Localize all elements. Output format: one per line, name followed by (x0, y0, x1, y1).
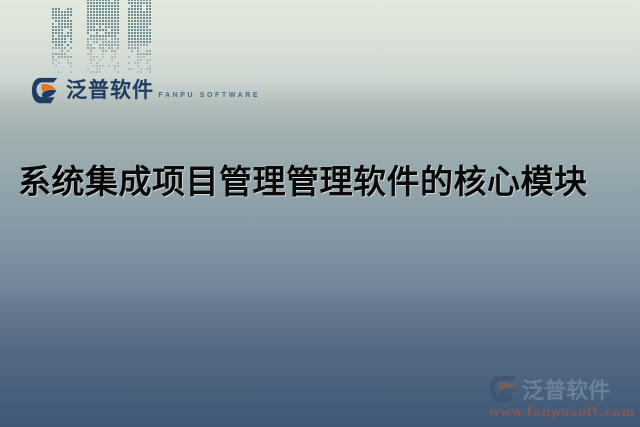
skyline-pixel (70, 32, 72, 34)
skyline-pixel (111, 23, 113, 25)
skyline-pixel (96, 56, 98, 58)
skyline-pixel (140, 56, 142, 58)
skyline-pixel (108, 8, 110, 10)
skyline-pixel (105, 68, 107, 70)
skyline-pixel (114, 11, 116, 13)
skyline-pixel (87, 50, 89, 52)
skyline-pixel (117, 5, 119, 7)
skyline-pixel (87, 41, 89, 43)
skyline-pixel (70, 47, 72, 49)
skyline-pixel (131, 35, 133, 37)
skyline-pixel (128, 59, 130, 61)
skyline-pixel (111, 17, 113, 19)
skyline-pixel (52, 29, 54, 31)
skyline-pixel (108, 5, 110, 7)
skyline-pixel (58, 11, 60, 13)
skyline-pixel (134, 29, 136, 31)
skyline-pixel-row (87, 14, 119, 16)
skyline-pixel (64, 26, 66, 28)
skyline-pixel (137, 8, 139, 10)
skyline-pixel (90, 35, 92, 37)
skyline-pixel (143, 5, 145, 7)
skyline-pixel (61, 59, 63, 61)
skyline-pixel (99, 32, 101, 34)
skyline-pixel (117, 65, 119, 67)
skyline-pixel (105, 14, 107, 16)
skyline-pixel (140, 11, 142, 13)
skyline-pixel (111, 71, 113, 73)
skyline-pixel (102, 44, 104, 46)
skyline-pixel (61, 50, 63, 52)
skyline-pixel (70, 71, 72, 73)
skyline-pixel (143, 38, 145, 40)
skyline-pixel (70, 41, 72, 43)
skyline-pixel (55, 20, 57, 22)
skyline-pixel-row (87, 35, 119, 37)
skyline-pixel (131, 68, 133, 70)
skyline-pixel (87, 5, 89, 7)
skyline-pixel (58, 20, 60, 22)
skyline-pixel (102, 41, 104, 43)
skyline-pixel (105, 20, 107, 22)
skyline-pixel (149, 53, 151, 55)
skyline-pixel (134, 17, 136, 19)
skyline-pixel-row (52, 38, 72, 40)
skyline-pixel (137, 23, 139, 25)
skyline-pixel (128, 62, 130, 64)
skyline-pixel (93, 17, 95, 19)
skyline-pixel (128, 2, 130, 4)
skyline-pixel (99, 47, 101, 49)
skyline-pixel (58, 29, 60, 31)
skyline-pixel (61, 41, 63, 43)
skyline-pixel (143, 20, 145, 22)
skyline-pixel (99, 68, 101, 70)
skyline-pixel (87, 59, 89, 61)
watermark-url: www.fanpusoft.com (489, 404, 634, 419)
skyline-pixel-row (128, 59, 151, 61)
skyline-pixel (134, 14, 136, 16)
skyline-pixel-row (87, 17, 119, 19)
skyline-pixel (140, 71, 142, 73)
skyline-pixel (64, 20, 66, 22)
skyline-pixel (114, 68, 116, 70)
skyline-pixel (87, 68, 89, 70)
skyline-pixel (61, 44, 63, 46)
skyline-pixel (131, 17, 133, 19)
skyline-pixel (93, 14, 95, 16)
skyline-pixel (131, 50, 133, 52)
skyline-pixel-row (87, 59, 119, 61)
skyline-pixel (140, 32, 142, 34)
skyline-pixel (67, 47, 69, 49)
skyline-pixel (105, 59, 107, 61)
skyline-pixel (70, 26, 72, 28)
skyline-pixel (143, 62, 145, 64)
skyline-pixel (67, 38, 69, 40)
skyline-pixel (143, 8, 145, 10)
skyline-pixel (108, 71, 110, 73)
skyline-pixel (128, 11, 130, 13)
skyline-pixel (96, 2, 98, 4)
skyline-pixel (58, 50, 60, 52)
skyline-pixel (108, 20, 110, 22)
skyline-pixel (140, 65, 142, 67)
skyline-pixel (108, 47, 110, 49)
skyline-pixel (96, 26, 98, 28)
skyline-pixel (102, 71, 104, 73)
skyline-pixel (117, 32, 119, 34)
skyline-pixel (93, 29, 95, 31)
skyline-pixel (134, 47, 136, 49)
skyline-pixel-row (52, 17, 72, 19)
skyline-pixel (143, 32, 145, 34)
skyline-pixel (99, 17, 101, 19)
skyline-pixel (96, 59, 98, 61)
skyline-pixel (55, 23, 57, 25)
skyline-pixel (143, 68, 145, 70)
skyline-pixel (114, 59, 116, 61)
skyline-pixel (102, 23, 104, 25)
skyline-pixel (96, 11, 98, 13)
skyline-pixel (149, 41, 151, 43)
skyline-pixel (90, 32, 92, 34)
skyline-pixel (96, 20, 98, 22)
skyline-pixel (146, 68, 148, 70)
skyline-pixel (55, 59, 57, 61)
skyline-pixel (90, 56, 92, 58)
skyline-pixel (117, 41, 119, 43)
skyline-pixel (52, 17, 54, 19)
skyline-pixel (96, 65, 98, 67)
skyline-pixel-row (52, 71, 72, 73)
skyline-pixel (93, 32, 95, 34)
skyline-pixel (111, 38, 113, 40)
skyline-pixel (93, 44, 95, 46)
skyline-pixel (102, 8, 104, 10)
skyline-pixel-row (87, 8, 119, 10)
skyline-pixel (87, 20, 89, 22)
skyline-pixel (149, 68, 151, 70)
skyline-pixel (55, 38, 57, 40)
skyline-pixel (128, 5, 130, 7)
skyline-pixel (114, 32, 116, 34)
skyline-pixel (117, 44, 119, 46)
skyline-pixel (105, 65, 107, 67)
skyline-pixel-row (87, 11, 119, 13)
skyline-pixel (128, 68, 130, 70)
skyline-pixel (134, 68, 136, 70)
skyline-pixel (137, 0, 139, 1)
skyline-pixel (128, 71, 130, 73)
skyline-pixel (114, 23, 116, 25)
skyline-pixel (67, 20, 69, 22)
skyline-pixel (93, 41, 95, 43)
skyline-pixel (61, 17, 63, 19)
skyline-pixel (108, 17, 110, 19)
skyline-pixel (146, 2, 148, 4)
skyline-pixel (67, 65, 69, 67)
skyline-pixel-row (128, 41, 151, 43)
skyline-pixel (99, 2, 101, 4)
skyline-pixel (137, 68, 139, 70)
skyline-pixel (64, 29, 66, 31)
skyline-pixel-row (52, 68, 72, 70)
skyline-pixel (102, 56, 104, 58)
skyline-pixel (96, 14, 98, 16)
skyline-pixel (67, 68, 69, 70)
skyline-pixel (146, 44, 148, 46)
skyline-pixel (93, 68, 95, 70)
skyline-pixel (137, 59, 139, 61)
skyline-pixel-row (128, 56, 151, 58)
skyline-pixel (61, 20, 63, 22)
skyline-pixel (70, 50, 72, 52)
skyline-pixel (64, 8, 66, 10)
skyline-pixel (149, 17, 151, 19)
skyline-pixel (114, 53, 116, 55)
skyline-pixel (55, 29, 57, 31)
skyline-pixel (99, 56, 101, 58)
skyline-pixel (149, 71, 151, 73)
skyline-pixel (146, 35, 148, 37)
skyline-pixel (96, 8, 98, 10)
skyline-pixel (149, 11, 151, 13)
skyline-pixel (117, 35, 119, 37)
skyline-pixel (117, 56, 119, 58)
skyline-pixel (55, 32, 57, 34)
skyline-pixel (134, 20, 136, 22)
skyline-pixel (149, 5, 151, 7)
skyline-pixel (52, 14, 54, 16)
skyline-pixel (111, 26, 113, 28)
skyline-pixel (87, 35, 89, 37)
skyline-pixel-row (128, 62, 151, 64)
skyline-pixel (111, 35, 113, 37)
skyline-pixel (105, 0, 107, 1)
skyline-pixel (143, 56, 145, 58)
skyline-pixel (134, 56, 136, 58)
skyline-pixel (146, 32, 148, 34)
skyline-pixel (140, 59, 142, 61)
skyline-pixel (70, 59, 72, 61)
skyline-pixel (128, 38, 130, 40)
skyline-pixel (58, 59, 60, 61)
skyline-pixel (87, 23, 89, 25)
skyline-pixel (58, 56, 60, 58)
skyline-pixel (108, 50, 110, 52)
skyline-pixel (143, 29, 145, 31)
skyline-pixel (114, 44, 116, 46)
skyline-pixel (96, 23, 98, 25)
skyline-pixel (111, 56, 113, 58)
skyline-pixel (61, 32, 63, 34)
skyline-pixel (140, 50, 142, 52)
skyline-pixel (111, 32, 113, 34)
skyline-pixel (99, 20, 101, 22)
skyline-pixel (114, 8, 116, 10)
skyline-pixel (114, 50, 116, 52)
skyline-pixel (149, 2, 151, 4)
skyline-pixel (146, 23, 148, 25)
skyline-pixel (108, 68, 110, 70)
skyline-pixel-row (128, 2, 151, 4)
skyline-pixel (143, 50, 145, 52)
skyline-pixel (128, 14, 130, 16)
skyline-pixel (143, 23, 145, 25)
skyline-pixel (128, 44, 130, 46)
skyline-pixel (90, 47, 92, 49)
skyline-pixel (149, 29, 151, 31)
skyline-pixel (90, 44, 92, 46)
skyline-pixel-row (128, 23, 151, 25)
skyline-pixel (90, 11, 92, 13)
skyline-pixel (134, 62, 136, 64)
skyline-pixel (117, 23, 119, 25)
skyline-pixel (114, 38, 116, 40)
skyline-pixel (58, 53, 60, 55)
skyline-pixel (99, 59, 101, 61)
skyline-pixel (90, 0, 92, 1)
skyline-pixel (149, 62, 151, 64)
fanpu-swirl-hexagon-icon (31, 76, 60, 105)
skyline-pixel (90, 5, 92, 7)
skyline-pixel (128, 56, 130, 58)
skyline-pixel (102, 53, 104, 55)
skyline-pixel (55, 14, 57, 16)
skyline-pixel (108, 56, 110, 58)
skyline-pixel (105, 17, 107, 19)
skyline-pixel (70, 56, 72, 58)
skyline-pixel (146, 11, 148, 13)
skyline-pixel (70, 65, 72, 67)
skyline-pixel (64, 47, 66, 49)
skyline-pixel (61, 26, 63, 28)
skyline-pixel (108, 53, 110, 55)
skyline-pixel (102, 50, 104, 52)
skyline-pixel (111, 65, 113, 67)
skyline-pixel (55, 62, 57, 64)
skyline-pixel (134, 44, 136, 46)
skyline-pixel (64, 14, 66, 16)
skyline-pixel (70, 20, 72, 22)
skyline-pixel (137, 50, 139, 52)
skyline-pixel (67, 14, 69, 16)
skyline-pixel (140, 0, 142, 1)
skyline-pixel (146, 14, 148, 16)
skyline-pixel (134, 11, 136, 13)
skyline-pixel (131, 44, 133, 46)
skyline-pixel (149, 47, 151, 49)
skyline-pixel (140, 44, 142, 46)
skyline-pixel (67, 62, 69, 64)
skyline-pixel (52, 62, 54, 64)
skyline-pixel (137, 53, 139, 55)
skyline-pixel (128, 47, 130, 49)
skyline-pixel (52, 26, 54, 28)
skyline-pixel (70, 14, 72, 16)
skyline-pixel (64, 32, 66, 34)
skyline-pixel (105, 29, 107, 31)
skyline-tower-left (52, 8, 72, 74)
skyline-pixel (140, 8, 142, 10)
skyline-pixel (64, 62, 66, 64)
skyline-pixel (58, 62, 60, 64)
skyline-pixel (67, 41, 69, 43)
skyline-pixel (93, 2, 95, 4)
skyline-pixel (117, 62, 119, 64)
skyline-pixel (114, 56, 116, 58)
skyline-pixel (117, 59, 119, 61)
watermark-logo-row: 泛普软件 (489, 373, 634, 405)
skyline-pixel (55, 41, 57, 43)
skyline-pixel (146, 20, 148, 22)
skyline-pixel (114, 17, 116, 19)
skyline-pixel (90, 20, 92, 22)
skyline-pixel (64, 17, 66, 19)
skyline-pixel-row (52, 59, 72, 61)
skyline-pixel (117, 53, 119, 55)
skyline-pixel (149, 50, 151, 52)
skyline-pixel (58, 38, 60, 40)
skyline-pixel (131, 2, 133, 4)
skyline-pixel (67, 32, 69, 34)
skyline-pixel (87, 29, 89, 31)
skyline-pixel (108, 2, 110, 4)
skyline-pixel-row (128, 38, 151, 40)
skyline-pixel (134, 41, 136, 43)
skyline-pixel (93, 71, 95, 73)
skyline-pixel (105, 47, 107, 49)
skyline-pixel (64, 41, 66, 43)
skyline-pixel-row (128, 44, 151, 46)
skyline-pixel (67, 29, 69, 31)
skyline-pixel (143, 17, 145, 19)
skyline-pixel (61, 65, 63, 67)
skyline-pixel (117, 17, 119, 19)
skyline-pixel (99, 26, 101, 28)
brand-name-cn: 泛普软件 (66, 78, 154, 102)
skyline-pixel (111, 8, 113, 10)
skyline-pixel (99, 23, 101, 25)
skyline-pixel (105, 26, 107, 28)
skyline-pixel (105, 32, 107, 34)
skyline-pixel (102, 20, 104, 22)
skyline-pixel (58, 71, 60, 73)
skyline-pixel (99, 62, 101, 64)
skyline-pixel (70, 68, 72, 70)
skyline-pixel-row (87, 29, 119, 31)
slide-headline: 系统集成项目管理管理软件的核心模块 (18, 155, 588, 203)
skyline-pixel (131, 38, 133, 40)
skyline-pixel (137, 56, 139, 58)
skyline-pixel (61, 8, 63, 10)
skyline-pixel (143, 2, 145, 4)
skyline-pixel (117, 11, 119, 13)
skyline-pixel (64, 65, 66, 67)
skyline-pixel (137, 62, 139, 64)
skyline-pixel (55, 8, 57, 10)
skyline-pixel (93, 11, 95, 13)
skyline-pixel-row (52, 47, 72, 49)
skyline-pixel (99, 50, 101, 52)
skyline-pixel (128, 0, 130, 1)
skyline-pixel (70, 38, 72, 40)
skyline-pixel (52, 23, 54, 25)
skyline-pixel-row (128, 50, 151, 52)
skyline-pixel (131, 0, 133, 1)
skyline-pixel (108, 62, 110, 64)
